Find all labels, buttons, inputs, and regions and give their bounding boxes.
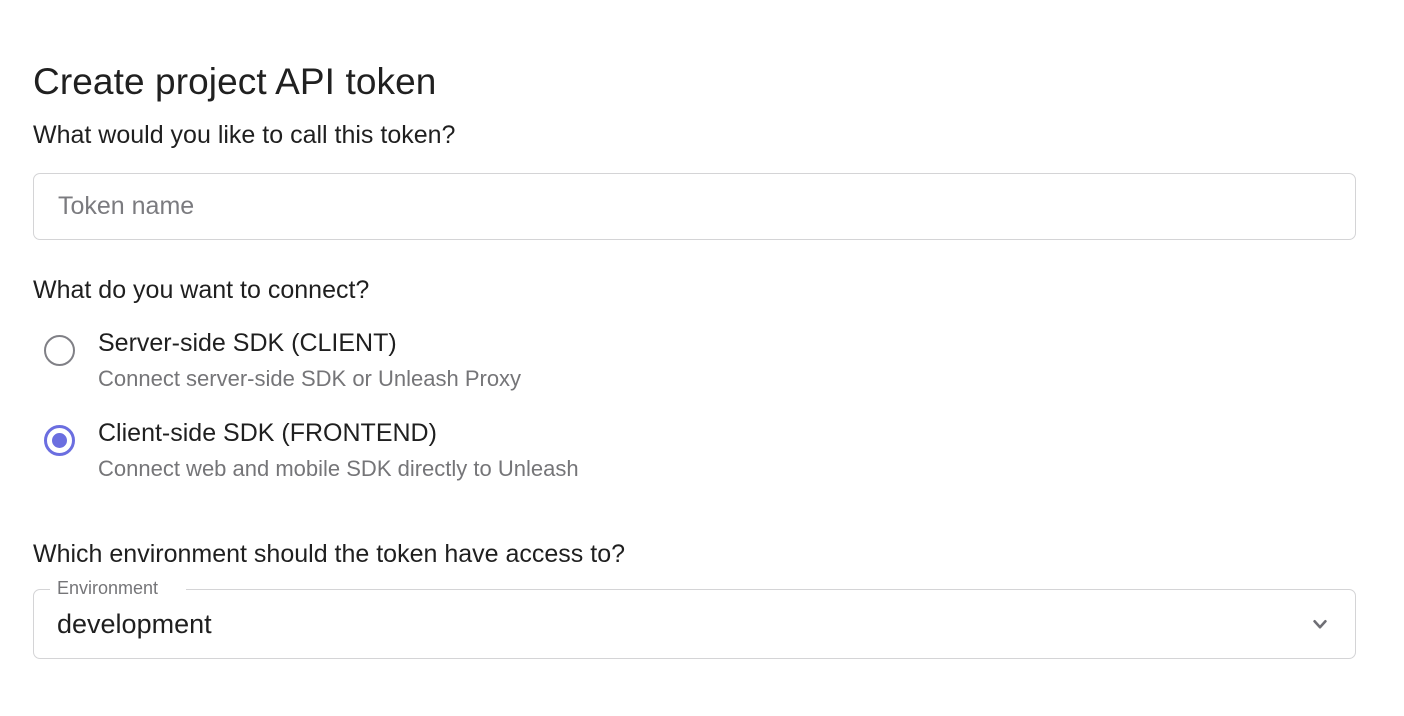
environment-select-value: development	[57, 589, 212, 659]
radio-option-description: Connect server-side SDK or Unleash Proxy	[98, 364, 1356, 393]
radio-option-label: Server-side SDK (CLIENT)	[98, 327, 1356, 360]
environment-question-label: Which environment should the token have …	[33, 538, 625, 570]
radio-selected-icon[interactable]	[44, 425, 75, 456]
token-name-input[interactable]	[33, 173, 1356, 240]
environment-select-wrapper: Environment development	[33, 589, 1356, 659]
token-name-question-label: What would you like to call this token?	[33, 119, 455, 151]
radio-option-server-side-sdk[interactable]: Server-side SDK (CLIENT) Connect server-…	[33, 327, 1356, 403]
chevron-down-icon[interactable]	[1306, 610, 1334, 638]
radio-option-client-side-sdk[interactable]: Client-side SDK (FRONTEND) Connect web a…	[33, 417, 1356, 493]
token-type-question-label: What do you want to connect?	[33, 274, 369, 306]
radio-option-label: Client-side SDK (FRONTEND)	[98, 417, 1356, 450]
create-api-token-form: Create project API token What would you …	[0, 0, 1404, 716]
token-type-radio-group: Server-side SDK (CLIENT) Connect server-…	[33, 327, 1356, 493]
radio-option-description: Connect web and mobile SDK directly to U…	[98, 454, 1356, 483]
radio-unselected-icon[interactable]	[44, 335, 75, 366]
page-title: Create project API token	[33, 58, 436, 106]
environment-select[interactable]: Environment development	[33, 589, 1356, 659]
select-outline	[33, 589, 1356, 659]
